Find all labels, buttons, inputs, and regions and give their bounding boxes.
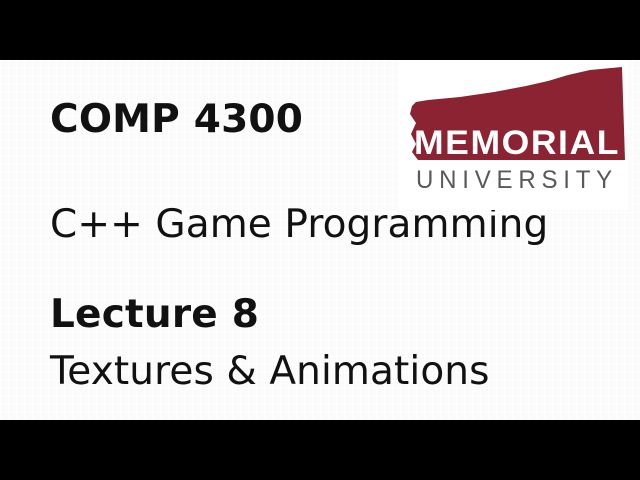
memorial-logo-svg: MEMORIAL UNIVERSITY: [398, 60, 628, 210]
video-frame: COMP 4300 C++ Game Programming Lecture 8…: [0, 0, 640, 480]
course-code: COMP 4300: [50, 100, 303, 139]
logo-wordmark-university: UNIVERSITY: [416, 166, 618, 194]
course-title: C++ Game Programming: [50, 205, 548, 244]
lecture-topic: Textures & Animations: [50, 352, 490, 391]
title-slide: COMP 4300 C++ Game Programming Lecture 8…: [0, 60, 640, 420]
letterbox-bar-top: [0, 0, 640, 60]
memorial-university-logo: MEMORIAL UNIVERSITY: [398, 60, 628, 210]
lecture-number: Lecture 8: [50, 295, 259, 334]
letterbox-bar-bottom: [0, 420, 640, 480]
logo-wordmark-memorial: MEMORIAL: [414, 124, 620, 162]
